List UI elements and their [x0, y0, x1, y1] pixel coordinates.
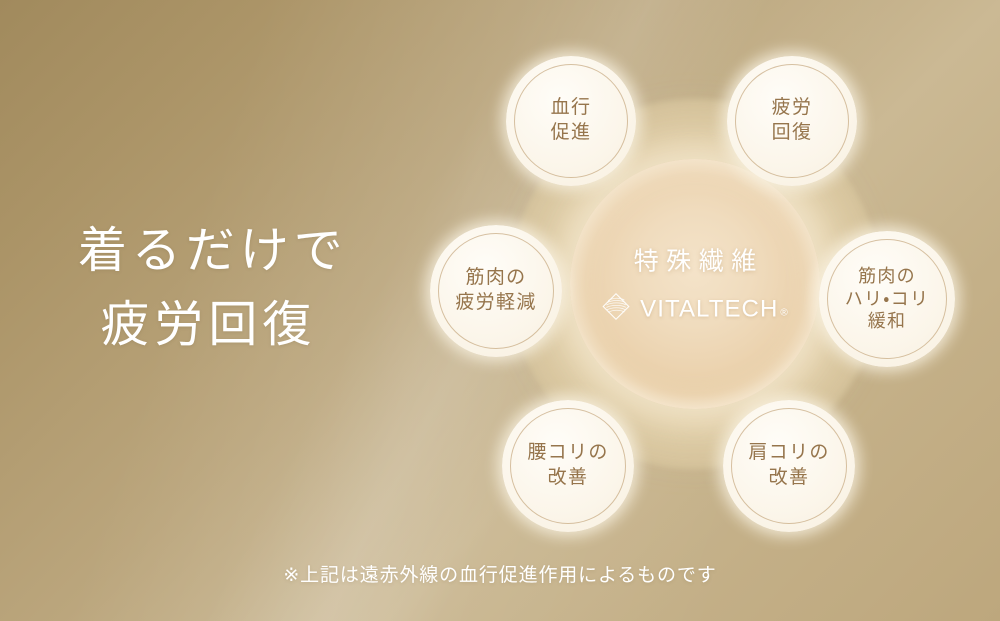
- benefit-label: 疲労 回復: [772, 96, 813, 145]
- brand-lockup: VITALTECH®: [570, 292, 820, 327]
- benefit-label: 筋肉の 疲労軽減: [455, 266, 536, 315]
- brand-name: VITALTECH®: [640, 297, 789, 321]
- benefit-bubble-fatigue-recovery[interactable]: 疲労 回復: [727, 56, 857, 186]
- center-orb-content: 特殊繊維: [570, 242, 820, 327]
- benefit-bubble-lower-back-stiffness[interactable]: 腰コリの 改善: [502, 400, 634, 532]
- vitaltech-diamond-logo-icon: [601, 292, 631, 327]
- benefit-bubble-muscle-fatigue-reduction[interactable]: 筋肉の 疲労軽減: [430, 225, 562, 357]
- benefit-bubble-shoulder-stiffness[interactable]: 肩コリの 改善: [723, 400, 855, 532]
- center-orb: 特殊繊維: [570, 159, 820, 409]
- benefit-label: 腰コリの 改善: [527, 441, 608, 490]
- headline-line-1: 着るだけで: [78, 223, 348, 278]
- registered-trademark-icon: ®: [780, 308, 788, 318]
- brand-name-text: VITALTECH: [640, 297, 778, 321]
- benefit-label: 肩コリの 改善: [748, 441, 829, 490]
- promo-banner: 着るだけで 疲労回復 特殊繊維: [0, 0, 1000, 621]
- benefits-diagram: 特殊繊維: [430, 38, 960, 538]
- benefit-bubble-muscle-stiffness-relief[interactable]: 筋肉の ハリ・コリ 緩和: [819, 231, 955, 367]
- headline-line-2: 疲労回復: [78, 288, 348, 362]
- headline: 着るだけで 疲労回復: [78, 214, 348, 363]
- benefit-bubble-blood-circulation[interactable]: 血行 促進: [506, 56, 636, 186]
- benefit-label: 筋肉の ハリ・コリ 緩和: [845, 265, 929, 333]
- benefit-label: 血行 促進: [551, 96, 592, 145]
- center-title: 特殊繊維: [570, 242, 820, 278]
- footnote-disclaimer: ※上記は遠赤外線の血行促進作用によるものです: [0, 560, 1000, 587]
